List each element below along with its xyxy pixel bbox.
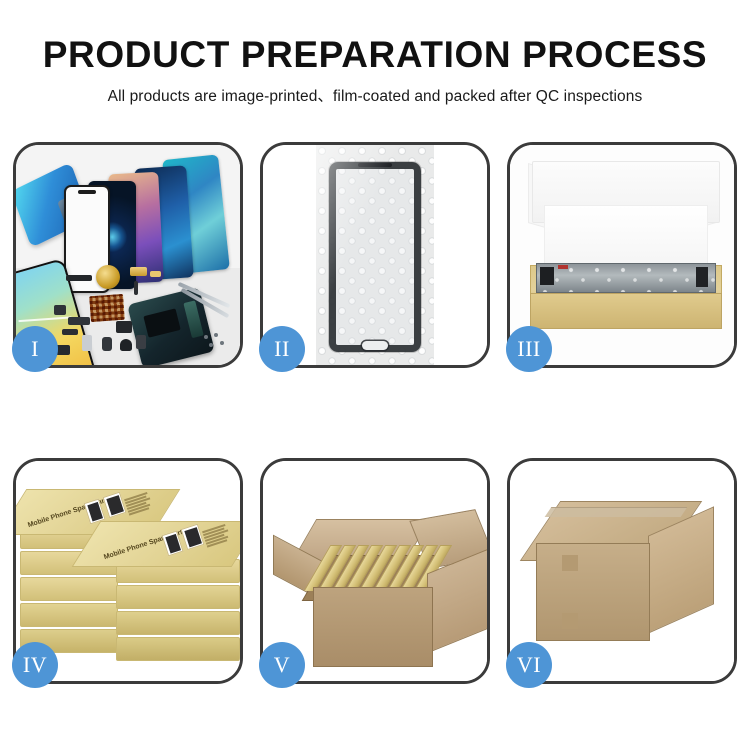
carton-front-face	[313, 587, 433, 667]
process-step-3: III	[507, 142, 737, 368]
part-strip-10	[120, 339, 132, 351]
step-badge-2: II	[259, 326, 305, 372]
process-step-1: I	[13, 142, 243, 368]
screws-group	[202, 333, 228, 351]
notch-icon	[78, 190, 96, 194]
step-badge-5: V	[259, 642, 305, 688]
carton-front-face-sealed	[536, 543, 650, 641]
copper-coil-part	[96, 265, 120, 289]
carton-tab-lower	[562, 613, 578, 629]
carton-tab-upper	[562, 555, 578, 571]
stack-box-top-b: Mobile Phone Spare Parts	[86, 521, 240, 565]
phone-screen-assembly	[329, 162, 421, 352]
part-strip-13	[56, 345, 70, 355]
page-subtitle: All products are image-printed、film-coat…	[0, 84, 750, 106]
part-strip-2	[130, 267, 147, 276]
product-preparation-infographic: PRODUCT PREPARATION PROCESS All products…	[0, 0, 750, 750]
process-step-5: V	[260, 458, 490, 684]
header: PRODUCT PREPARATION PROCESS All products…	[0, 0, 750, 120]
product-red-marker	[558, 265, 568, 269]
part-strip-11	[136, 335, 146, 349]
part-strip-5	[68, 317, 90, 325]
stack-box-side-7	[116, 585, 238, 607]
chip-array-part	[89, 294, 125, 322]
stack-box-side-3	[20, 577, 116, 599]
process-step-6: VI	[507, 458, 737, 684]
part-strip-9	[102, 337, 112, 351]
stack-box-side-4	[20, 603, 116, 625]
part-strip-12	[54, 305, 66, 315]
box-stack: Mobile Phone Spare Parts	[18, 481, 240, 671]
part-strip-3	[150, 271, 161, 277]
page-title: PRODUCT PREPARATION PROCESS	[0, 36, 750, 75]
stack-box-side-8	[116, 611, 238, 633]
kraft-box-front-wall	[530, 293, 722, 329]
part-strip-6	[62, 329, 78, 335]
step-badge-1: I	[12, 326, 58, 372]
part-strip-1	[66, 275, 92, 281]
packing-tape	[545, 507, 688, 517]
process-step-2: II	[260, 142, 490, 368]
part-strip-4	[134, 281, 138, 295]
tweezers-tool	[176, 287, 234, 333]
part-strip-8	[82, 335, 92, 351]
step-badge-3: III	[506, 326, 552, 372]
product-connector-right	[696, 267, 708, 287]
process-step-4: Mobile Phone Spare Parts	[13, 458, 243, 684]
product-connector-left	[540, 267, 554, 285]
stack-box-side-9	[116, 637, 238, 659]
step-badge-4: IV	[12, 642, 58, 688]
bubble-wrap-sheet	[316, 145, 434, 365]
part-strip-7	[116, 321, 132, 333]
step-badge-6: VI	[506, 642, 552, 688]
process-step-grid: I II	[13, 142, 737, 686]
